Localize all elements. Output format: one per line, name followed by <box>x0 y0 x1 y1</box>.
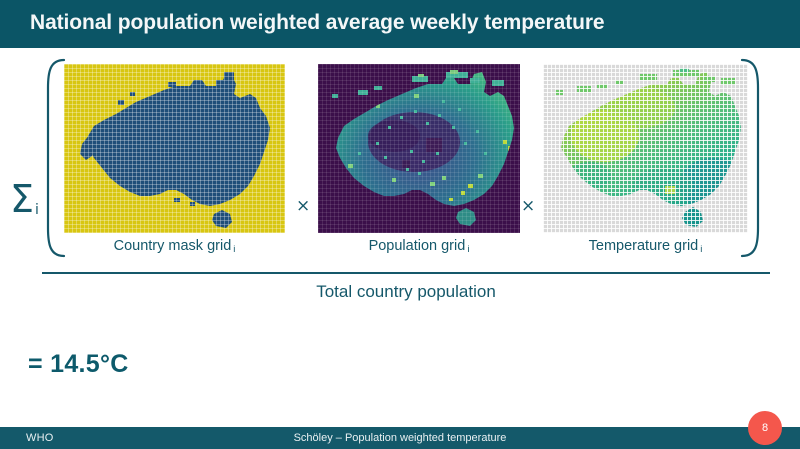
multiplication-operator-1: × <box>296 196 310 216</box>
footer-presentation-label: Schöley – Population weighted temperatur… <box>0 432 800 444</box>
result-value: = 14.5°C <box>28 350 129 379</box>
temperature-grid-map <box>543 64 748 233</box>
temperature-grid-label: Temperature gridi <box>543 238 748 255</box>
country-mask-grid-label-subscript: i <box>233 244 235 255</box>
population-grid-label: Population gridi <box>318 238 520 255</box>
summation-sigma-symbol: Σi <box>10 180 39 218</box>
temperature-grid-image <box>543 64 748 233</box>
slide-footer: WHO Schöley – Population weighted temper… <box>0 427 800 449</box>
slide: National population weighted average wee… <box>0 0 800 449</box>
population-grid-image <box>318 64 520 233</box>
slide-header: National population weighted average wee… <box>0 0 800 48</box>
country-mask-grid-label: Country mask gridi <box>64 238 285 255</box>
country-mask-grid-label-text: Country mask grid <box>114 238 232 254</box>
formula-block: Σi <box>0 48 800 318</box>
population-grid-label-subscript: i <box>467 244 469 255</box>
country-mask-grid-image <box>64 64 285 233</box>
temperature-grid-label-text: Temperature grid <box>589 238 699 254</box>
sigma-glyph: Σ <box>10 177 34 221</box>
temperature-grid-label-subscript: i <box>700 244 702 255</box>
page-number-badge: 8 <box>748 411 782 445</box>
fraction-denominator: Total country population <box>42 282 770 302</box>
multiplication-operator-2: × <box>521 196 535 216</box>
page-title: National population weighted average wee… <box>30 11 604 35</box>
country-mask-grid-map <box>64 64 285 233</box>
population-grid-map <box>318 64 520 233</box>
left-bracket-icon <box>44 58 66 258</box>
sigma-subscript: i <box>35 202 39 218</box>
fraction-bar <box>42 272 770 274</box>
population-grid-label-text: Population grid <box>369 238 466 254</box>
page-number-label: 8 <box>748 411 782 445</box>
